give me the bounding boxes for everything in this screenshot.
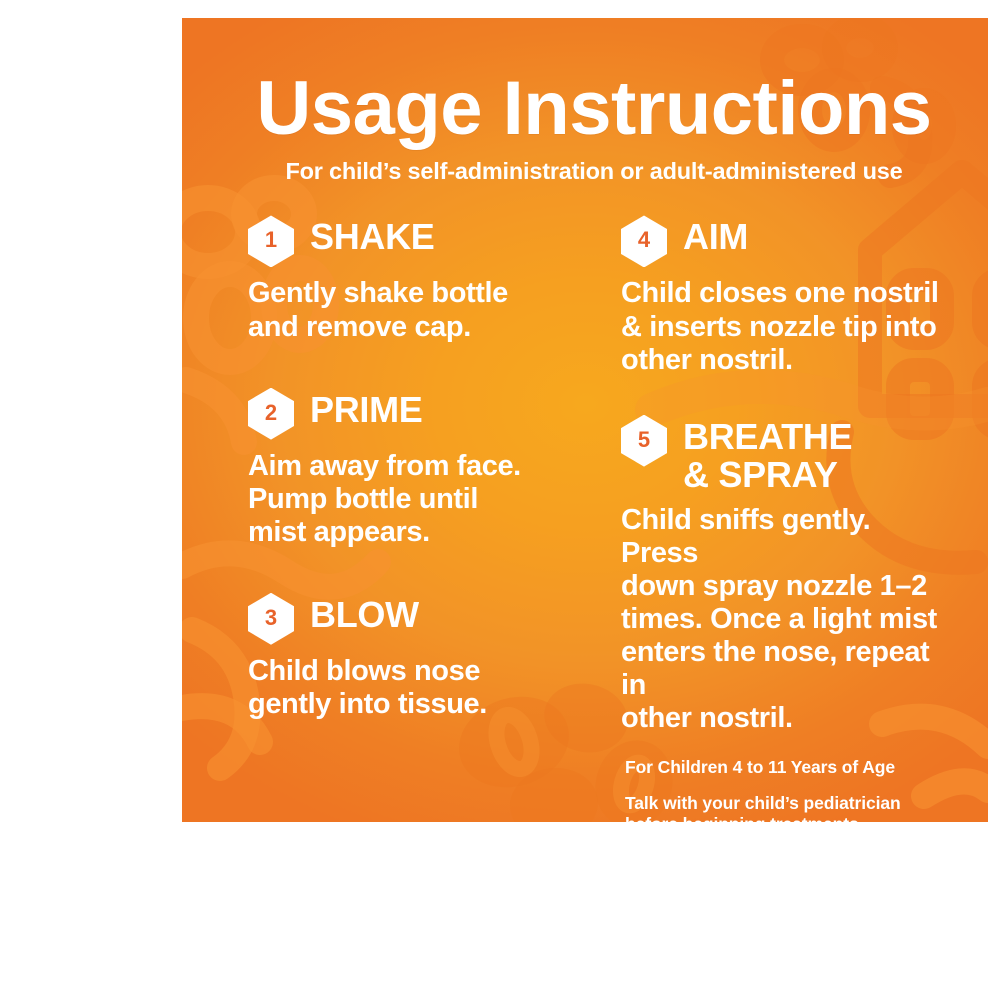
- step-item-shake: 1 SHAKE Gently shake bottle and remove c…: [248, 213, 581, 343]
- steps-columns: 1 SHAKE Gently shake bottle and remove c…: [234, 213, 954, 822]
- step-title: BLOW: [310, 591, 419, 634]
- panel-content: Usage Instructions For child’s self-admi…: [182, 18, 988, 822]
- step-number: 2: [265, 402, 277, 424]
- step-number-hexagon-icon: 3: [248, 593, 294, 645]
- footnote-pediatrician-advice: Talk with your child’s pediatrician befo…: [625, 793, 954, 822]
- step-item-aim: 4 AIM Child closes one nostril & inserts…: [621, 213, 954, 376]
- footnote-age-range: For Children 4 to 11 Years of Age: [625, 757, 954, 778]
- step-title: AIM: [683, 213, 748, 256]
- steps-column-left: 1 SHAKE Gently shake bottle and remove c…: [234, 213, 587, 822]
- page-subtitle: For child’s self-administration or adult…: [234, 158, 954, 185]
- step-header: 3 BLOW: [248, 591, 581, 645]
- page-canvas: .wmL { fill:none; stroke:#F79230; stroke…: [0, 0, 1000, 1000]
- step-title: PRIME: [310, 386, 423, 429]
- step-body: Gently shake bottle and remove cap.: [248, 277, 581, 343]
- step-body: Child blows nose gently into tissue.: [248, 655, 581, 721]
- step-number-hexagon-icon: 5: [621, 415, 667, 467]
- step-number-hexagon-icon: 2: [248, 388, 294, 440]
- steps-column-right: 4 AIM Child closes one nostril & inserts…: [607, 213, 954, 822]
- step-item-breathe-and-spray: 5 BREATHE & SPRAY Child sniffs gently. P…: [621, 413, 954, 736]
- step-number-hexagon-icon: 1: [248, 215, 294, 267]
- step-number: 1: [265, 229, 277, 251]
- step-number: 5: [638, 429, 650, 451]
- step-body: Child sniffs gently. Press down spray no…: [621, 504, 954, 735]
- step-title: SHAKE: [310, 213, 435, 256]
- usage-instructions-panel: .wmL { fill:none; stroke:#F79230; stroke…: [182, 18, 988, 822]
- step-body: Child closes one nostril & inserts nozzl…: [621, 277, 954, 376]
- page-title: Usage Instructions: [234, 72, 954, 146]
- footnotes: For Children 4 to 11 Years of Age Talk w…: [621, 757, 954, 822]
- step-item-blow: 3 BLOW Child blows nose gently into tiss…: [248, 591, 581, 721]
- step-header: 2 PRIME: [248, 386, 581, 440]
- step-header: 4 AIM: [621, 213, 954, 267]
- step-number: 3: [265, 607, 277, 629]
- step-item-prime: 2 PRIME Aim away from face. Pump bottle …: [248, 386, 581, 549]
- step-number: 4: [638, 229, 650, 251]
- step-title: BREATHE & SPRAY: [683, 413, 852, 494]
- step-header: 1 SHAKE: [248, 213, 581, 267]
- step-number-hexagon-icon: 4: [621, 215, 667, 267]
- step-header: 5 BREATHE & SPRAY: [621, 413, 954, 494]
- step-body: Aim away from face. Pump bottle until mi…: [248, 450, 581, 549]
